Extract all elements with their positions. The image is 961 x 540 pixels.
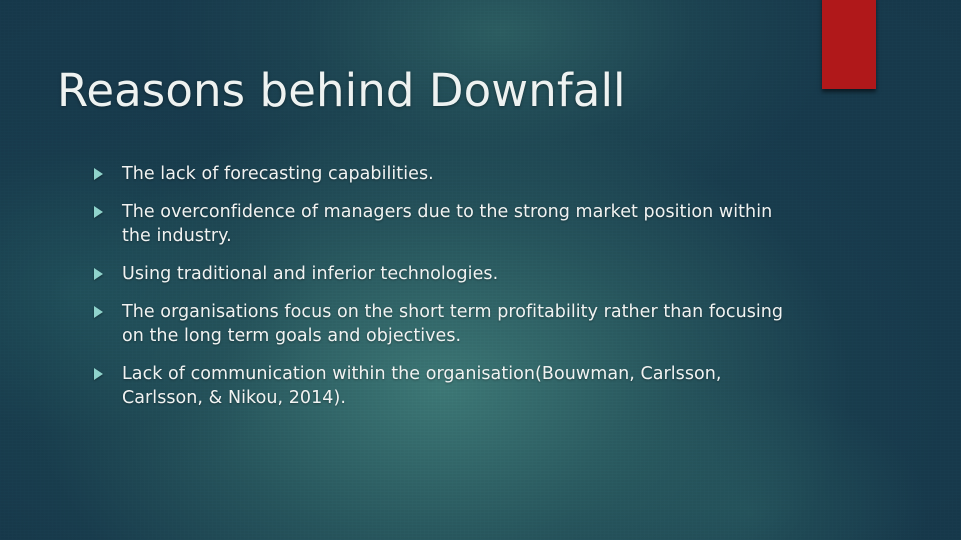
list-item: The overconfidence of managers due to th… xyxy=(92,200,804,248)
bullet-list: The lack of forecasting capabilities. Th… xyxy=(92,162,804,410)
list-item-label: The lack of forecasting capabilities. xyxy=(122,162,804,186)
list-item: Using traditional and inferior technolog… xyxy=(92,262,804,286)
triangle-bullet-icon xyxy=(94,206,103,218)
list-item: The lack of forecasting capabilities. xyxy=(92,162,804,186)
list-item-label: Using traditional and inferior technolog… xyxy=(122,262,804,286)
list-item: Lack of communication within the organis… xyxy=(92,362,804,410)
list-item-label: The organisations focus on the short ter… xyxy=(122,300,804,348)
list-item-label: The overconfidence of managers due to th… xyxy=(122,200,804,248)
list-item: The organisations focus on the short ter… xyxy=(92,300,804,348)
red-accent-bar xyxy=(822,0,876,89)
triangle-bullet-icon xyxy=(94,306,103,318)
page-title: Reasons behind Downfall xyxy=(57,66,817,116)
triangle-bullet-icon xyxy=(94,168,103,180)
triangle-bullet-icon xyxy=(94,368,103,380)
list-item-label: Lack of communication within the organis… xyxy=(122,362,804,410)
triangle-bullet-icon xyxy=(94,268,103,280)
presentation-slide: Reasons behind Downfall The lack of fore… xyxy=(0,0,961,540)
